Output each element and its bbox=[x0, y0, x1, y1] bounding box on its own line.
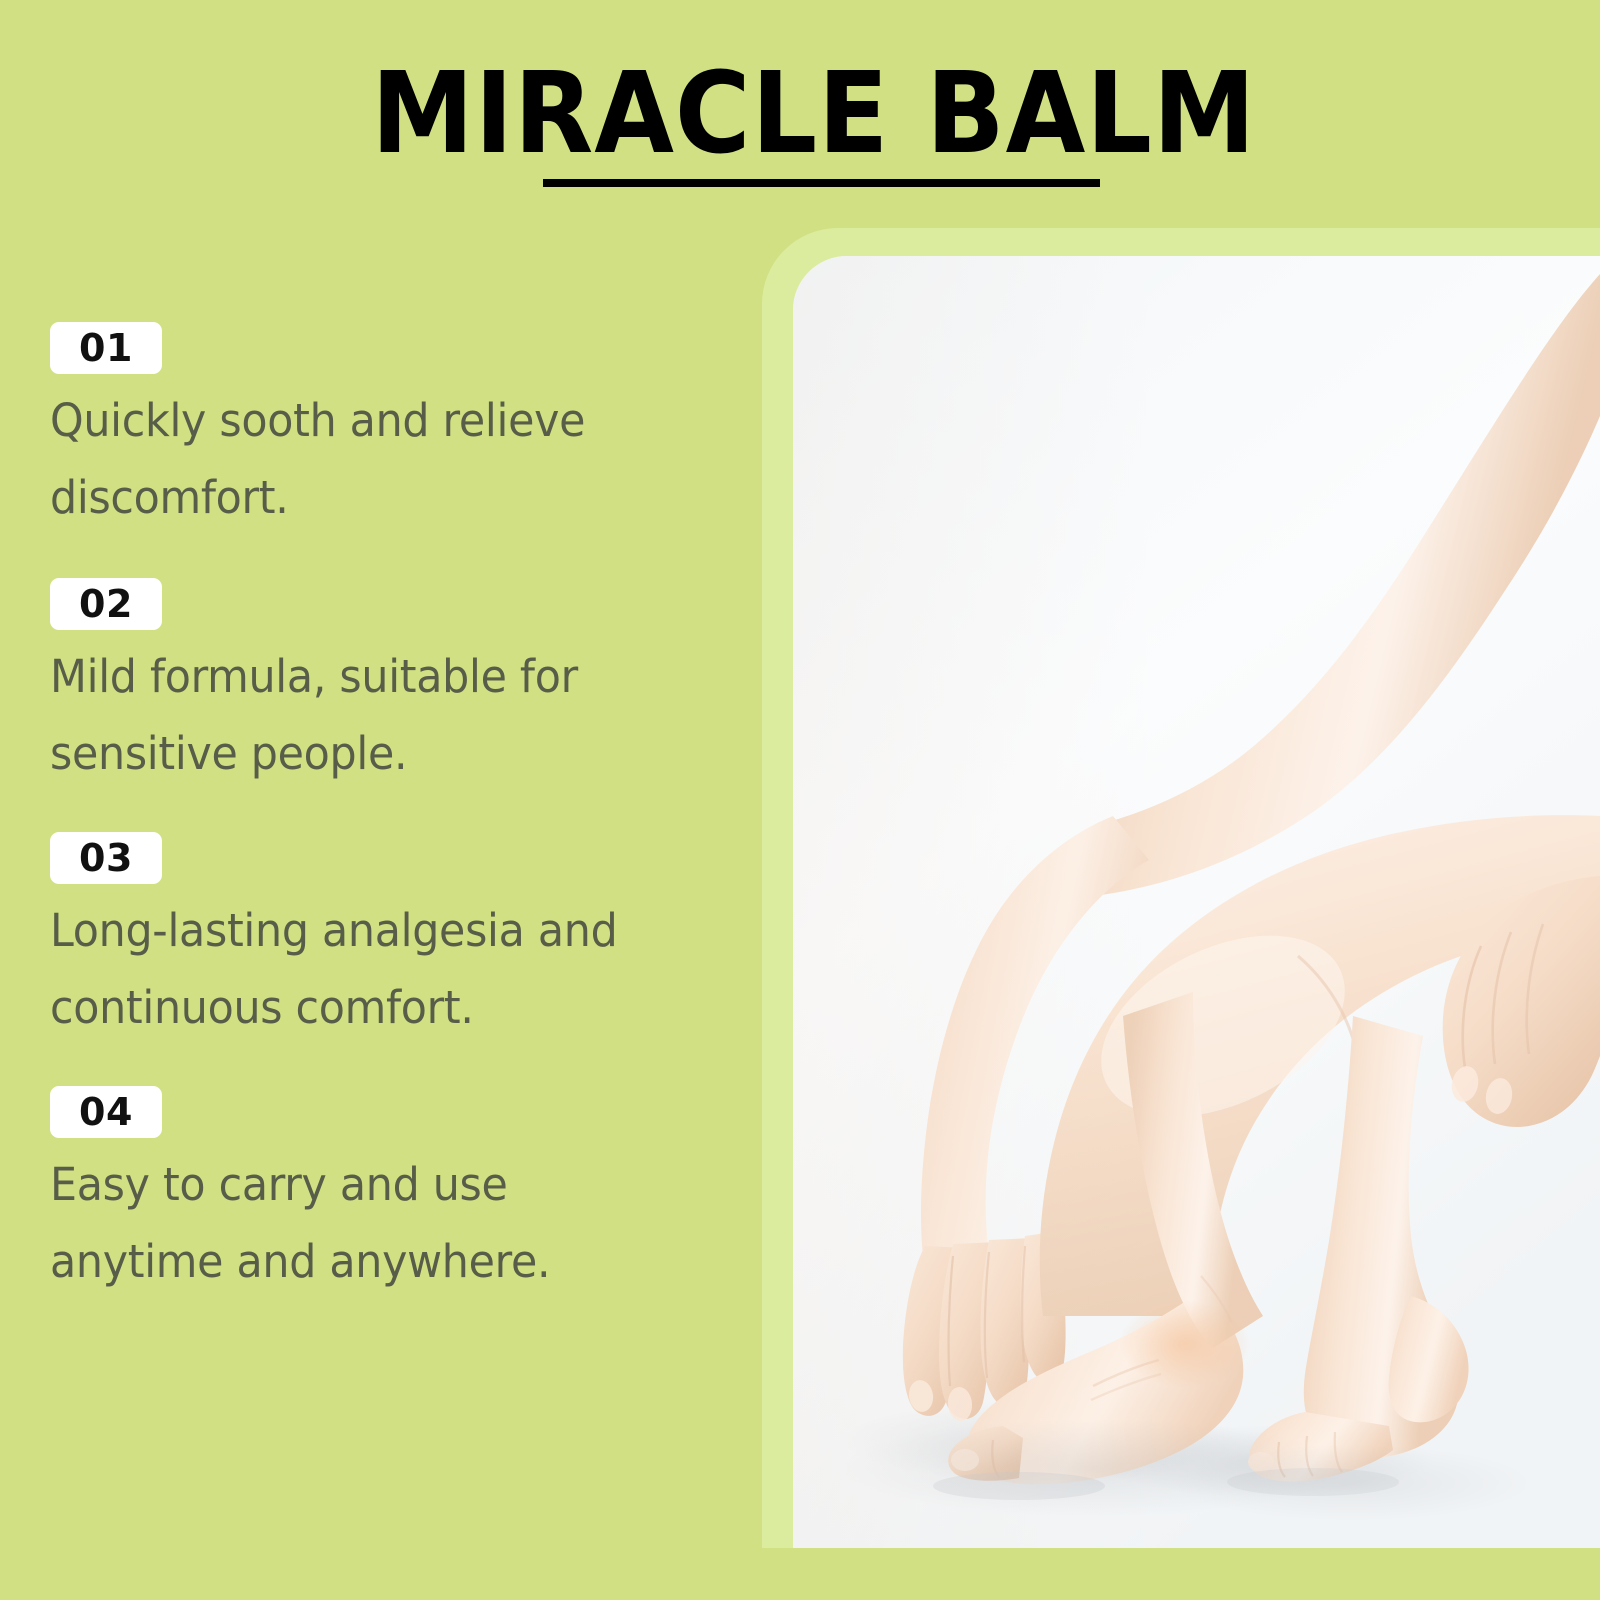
list-item: 01 Quickly sooth and relieve discomfort. bbox=[50, 322, 710, 536]
product-photo-panel bbox=[793, 256, 1600, 1548]
feature-number-badge: 04 bbox=[50, 1086, 162, 1138]
feature-description: Mild formula, suitable for sensitive peo… bbox=[50, 638, 677, 792]
feature-number-badge: 03 bbox=[50, 832, 162, 884]
title-underline-rule bbox=[543, 179, 1100, 187]
product-feature-poster: MIRACLE BALM 01 Quickly sooth and reliev… bbox=[0, 0, 1600, 1600]
feature-description: Long-lasting analgesia and continuous co… bbox=[50, 892, 677, 1046]
list-item: 04 Easy to carry and use anytime and any… bbox=[50, 1086, 710, 1300]
list-item: 02 Mild formula, suitable for sensitive … bbox=[50, 578, 710, 792]
feature-number-badge: 01 bbox=[50, 322, 162, 374]
feature-list: 01 Quickly sooth and relieve discomfort.… bbox=[50, 322, 710, 1300]
poster-header: MIRACLE BALM bbox=[0, 58, 1600, 170]
product-photo-frame bbox=[762, 228, 1600, 1548]
page-title: MIRACLE BALM bbox=[64, 58, 1536, 170]
list-item: 03 Long-lasting analgesia and continuous… bbox=[50, 832, 710, 1046]
feature-description: Easy to carry and use anytime and anywhe… bbox=[50, 1146, 677, 1300]
feature-number-badge: 02 bbox=[50, 578, 162, 630]
feature-description: Quickly sooth and relieve discomfort. bbox=[50, 382, 677, 536]
floor-shadow bbox=[793, 1318, 1600, 1548]
